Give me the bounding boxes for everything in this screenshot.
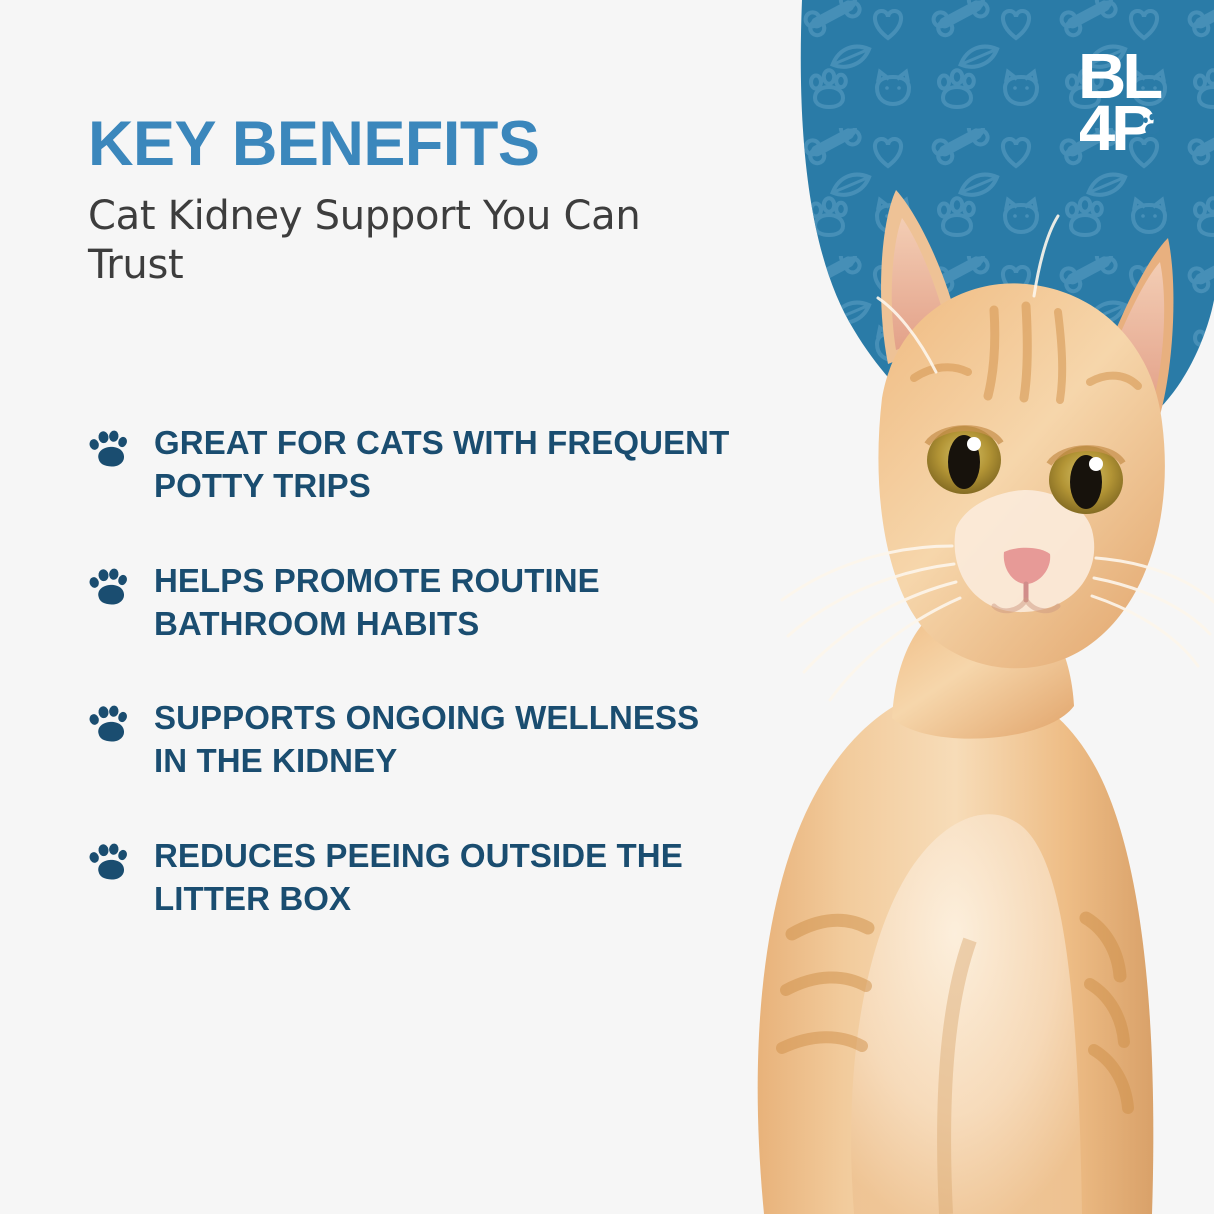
list-item: REDUCES PEEING OUTSIDE THE LITTER BOX — [88, 835, 748, 921]
content-column: KEY BENEFITS Cat Kidney Support You Can … — [88, 0, 748, 921]
paw-print-icon — [88, 841, 130, 883]
paw-print-icon — [88, 566, 130, 608]
benefit-label: SUPPORTS ONGOING WELLNESS IN THE KIDNEY — [154, 697, 734, 783]
benefit-label: GREAT FOR CATS WITH FREQUENT POTTY TRIPS — [154, 422, 734, 508]
cat-eye-right — [1049, 446, 1123, 514]
paw-print-icon — [88, 703, 130, 745]
list-item: GREAT FOR CATS WITH FREQUENT POTTY TRIPS — [88, 422, 748, 508]
logo-text-bottom: 4P — [1080, 92, 1154, 154]
brand-logo[interactable]: BL 4P — [1080, 42, 1172, 154]
benefit-label: HELPS PROMOTE ROUTINE BATHROOM HABITS — [154, 560, 734, 646]
page-title: KEY BENEFITS — [88, 0, 748, 176]
list-item: HELPS PROMOTE ROUTINE BATHROOM HABITS — [88, 560, 748, 646]
paw-print-icon — [88, 428, 130, 470]
product-benefits-graphic: BL 4P — [0, 0, 1214, 1214]
subtitle: Cat Kidney Support You Can Trust — [88, 176, 648, 290]
benefits-list: GREAT FOR CATS WITH FREQUENT POTTY TRIPS — [88, 290, 748, 921]
cat-eye-left — [927, 426, 1001, 494]
list-item: SUPPORTS ONGOING WELLNESS IN THE KIDNEY — [88, 697, 748, 783]
benefit-label: REDUCES PEEING OUTSIDE THE LITTER BOX — [154, 835, 734, 921]
